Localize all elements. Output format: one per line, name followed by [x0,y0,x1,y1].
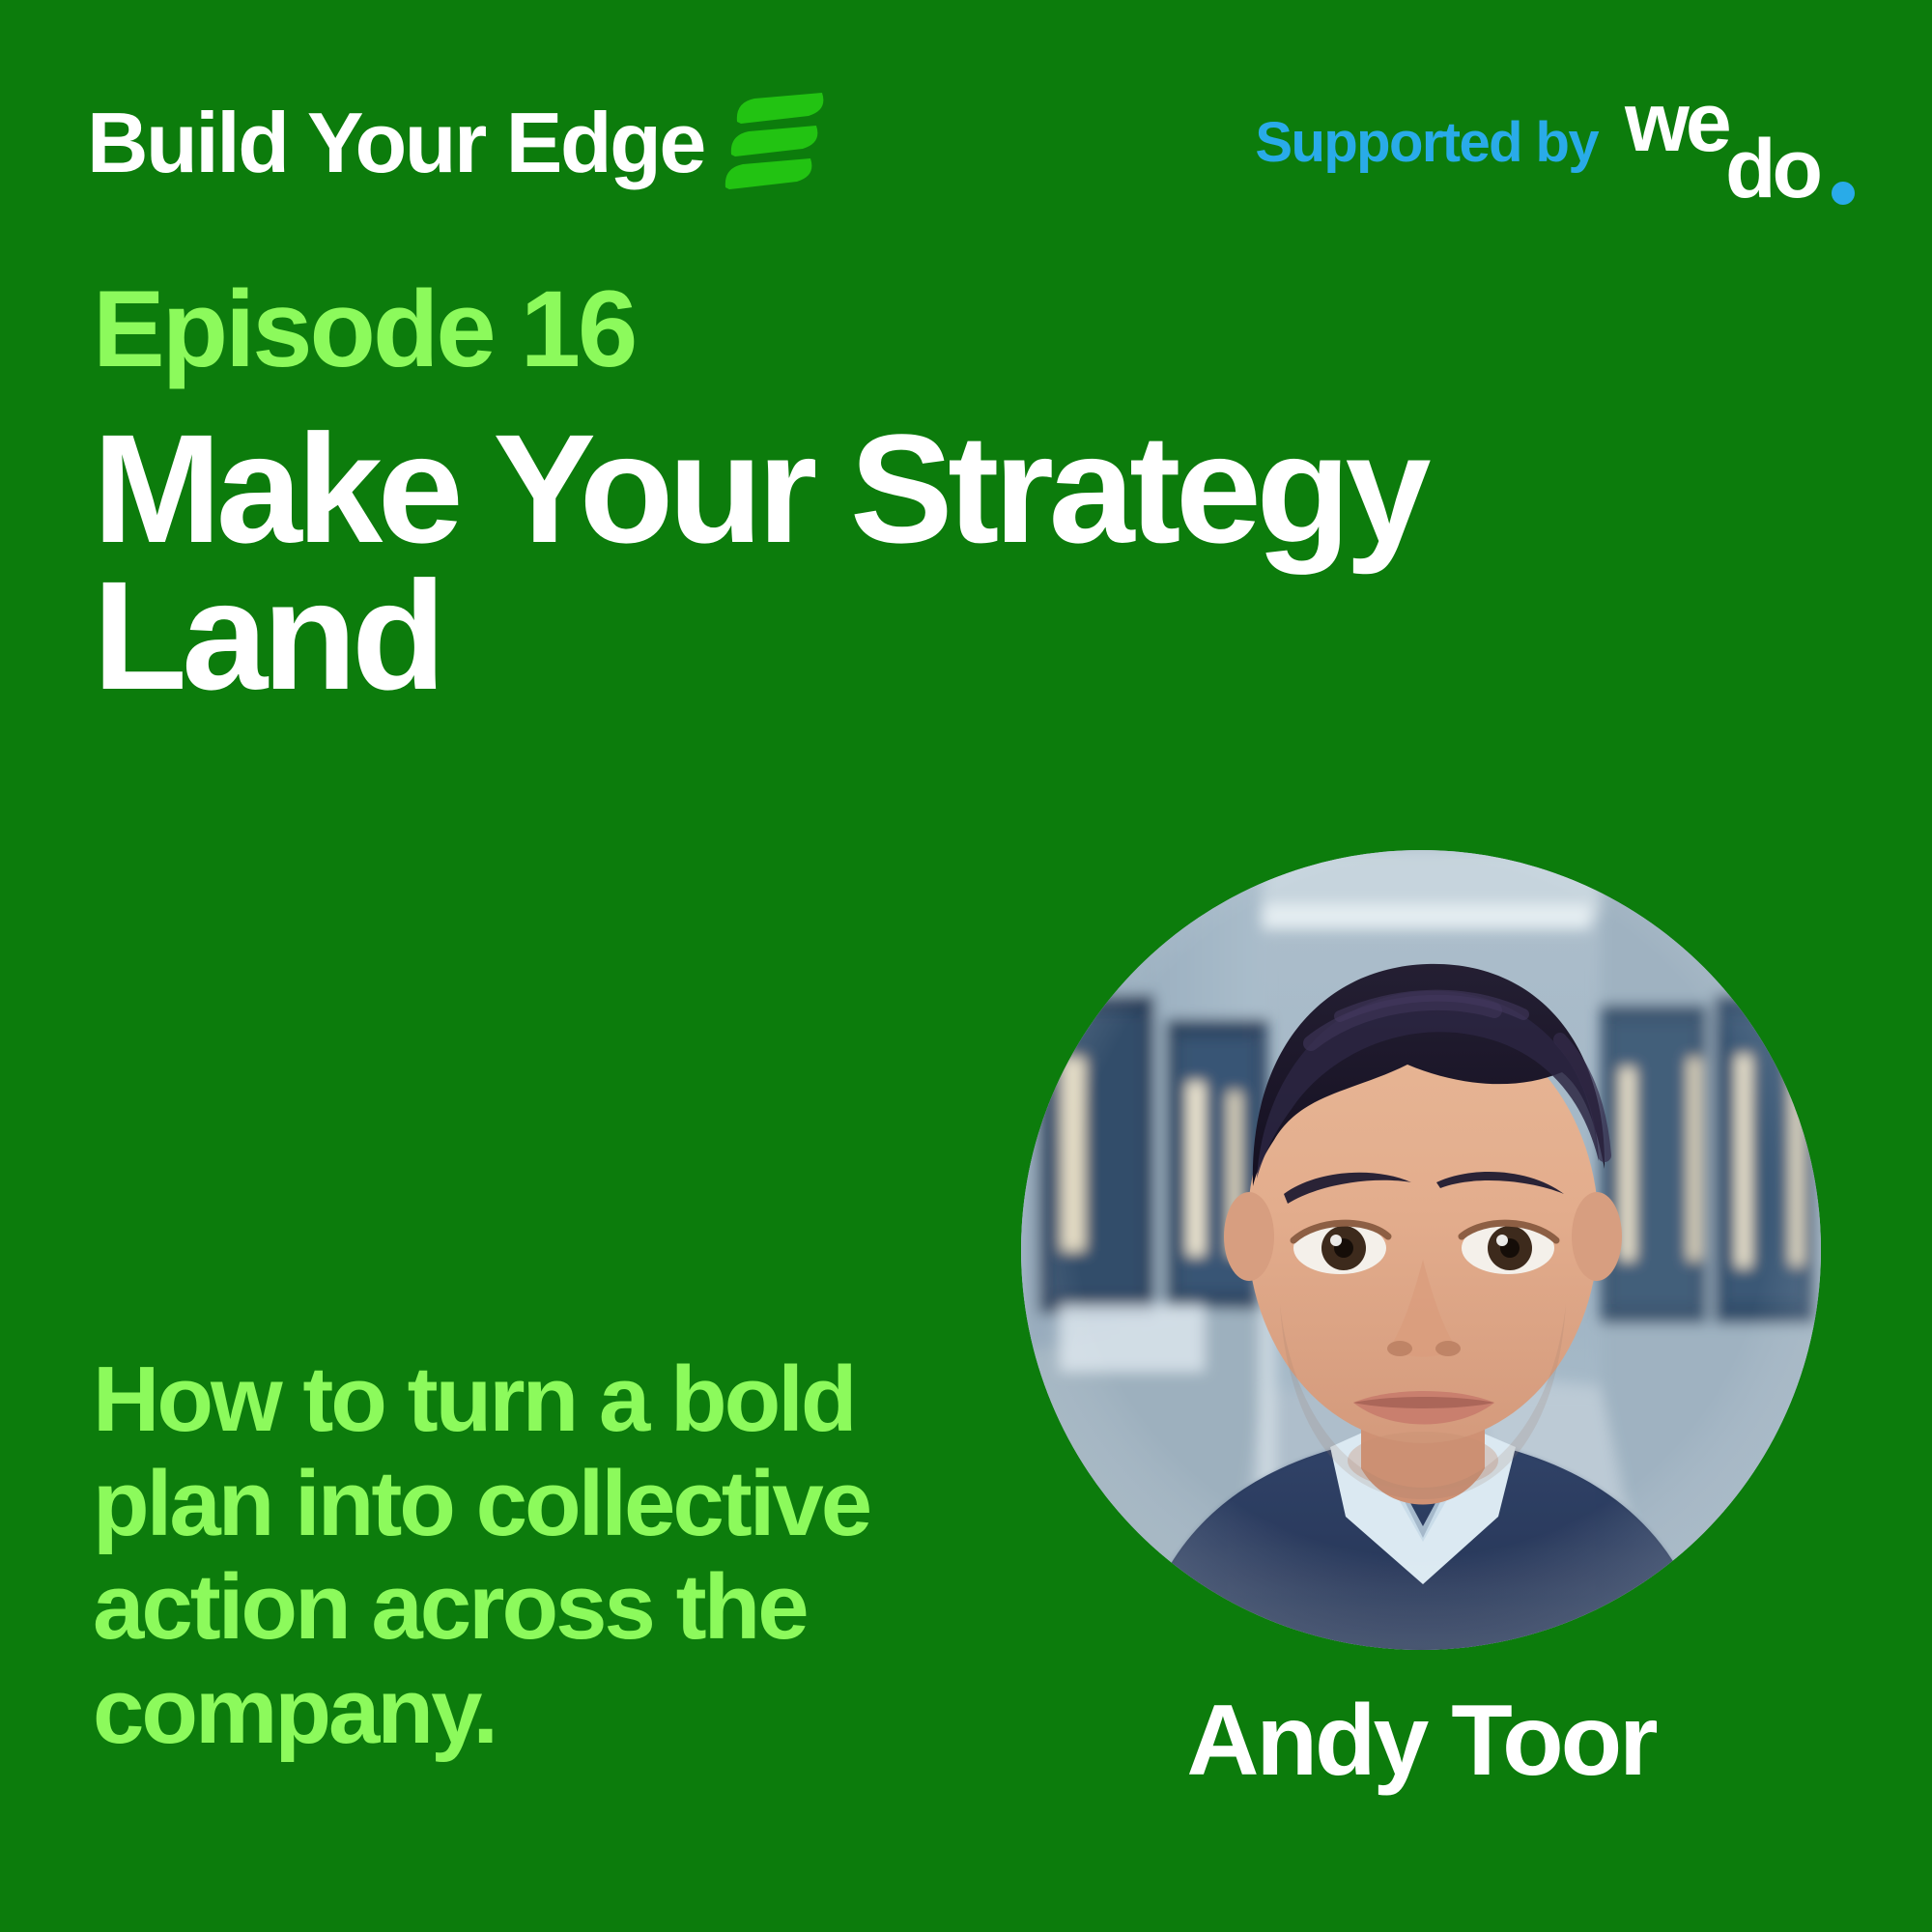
wedo-logo-dot-icon [1832,182,1855,205]
episode-title-line-1: Make Your Strategy [93,415,1822,562]
wedo-logo: we do [1625,81,1855,205]
guest-avatar [1021,850,1821,1650]
podcast-episode-cover: Build Your Edge Supported by we do Episo… [0,0,1932,1932]
episode-label: Episode 16 [93,275,635,384]
episode-title: Make Your Strategy Land [93,415,1822,709]
guest-name: Andy Toor [1021,1690,1821,1791]
three-slanted-bars-icon [722,93,830,193]
wedo-logo-line2: do [1725,128,1819,211]
supported-by-label: Supported by [1255,115,1598,171]
episode-subtitle: How to turn a bold plan into collective … [93,1348,1020,1763]
brand-name: Build Your Edge [87,100,704,185]
header: Build Your Edge Supported by we do [87,75,1855,211]
sponsor-block: Supported by we do [1255,81,1855,205]
guest-photo [1021,850,1821,1650]
brand-lockup: Build Your Edge [87,93,830,193]
episode-title-line-2: Land [93,562,1822,709]
wedo-logo-line1: we [1625,81,1728,164]
